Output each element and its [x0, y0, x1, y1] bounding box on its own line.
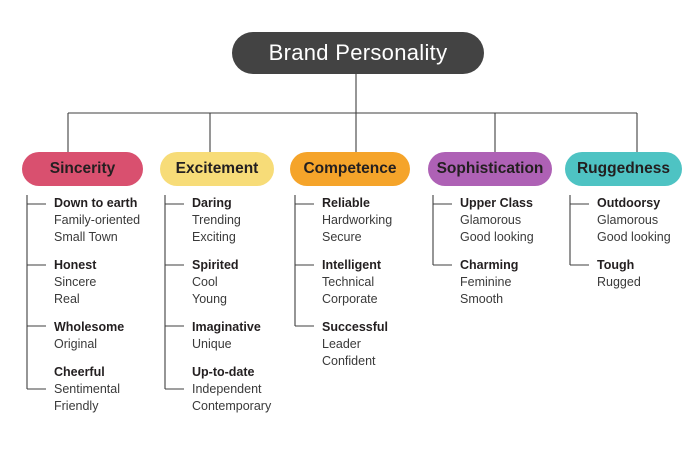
facet-connector-lines — [22, 195, 54, 447]
category-label: Excitement — [176, 160, 259, 178]
facet-item: Intelligent Technical Corporate — [322, 257, 430, 308]
facet-name: Cheerful — [54, 364, 162, 381]
facet-trait: Secure — [322, 229, 430, 246]
facet-item: Wholesome Original — [54, 319, 162, 353]
facet-name: Outdoorsy — [597, 195, 700, 212]
facet-item: Charming Feminine Smooth — [460, 257, 574, 308]
category-label: Sincerity — [50, 160, 115, 178]
category-label: Ruggedness — [577, 160, 670, 178]
facet-connector-lines — [160, 195, 192, 447]
facet-name: Reliable — [322, 195, 430, 212]
facet-trait: Good looking — [460, 229, 574, 246]
facet-trait: Unique — [192, 336, 300, 353]
facet-item: Upper Class Glamorous Good looking — [460, 195, 574, 246]
category-column-ruggedness: Ruggedness Outdoorsy Glamorous Good look… — [565, 152, 700, 291]
category-pill-competence[interactable]: Competence — [290, 152, 410, 186]
category-pill-ruggedness[interactable]: Ruggedness — [565, 152, 682, 186]
facet-name: Honest — [54, 257, 162, 274]
facet-name: Intelligent — [322, 257, 430, 274]
facet-trait: Exciting — [192, 229, 300, 246]
brand-personality-diagram: Brand Personality Sincerity Down to eart… — [0, 0, 700, 450]
facet-trait: Independent — [192, 381, 300, 398]
facet-name: Charming — [460, 257, 574, 274]
facet-list: Down to earth Family-oriented Small Town… — [22, 195, 162, 415]
facet-trait: Leader — [322, 336, 430, 353]
facet-item: Spirited Cool Young — [192, 257, 300, 308]
facet-name: Successful — [322, 319, 430, 336]
category-column-sophistication: Sophistication Upper Class Glamorous Goo… — [428, 152, 574, 308]
facet-trait: Smooth — [460, 291, 574, 308]
category-label: Competence — [303, 160, 396, 178]
category-label: Sophistication — [437, 160, 544, 178]
facet-list: Upper Class Glamorous Good looking Charm… — [428, 195, 574, 308]
facet-connector-lines — [428, 195, 460, 335]
facet-item: Up-to-date Independent Contemporary — [192, 364, 300, 415]
category-column-sincerity: Sincerity Down to earth Family-oriented … — [22, 152, 162, 415]
facet-trait: Rugged — [597, 274, 700, 291]
facet-connector-lines — [290, 195, 322, 395]
facet-trait: Glamorous — [460, 212, 574, 229]
facet-item: Tough Rugged — [597, 257, 700, 291]
facet-trait: Glamorous — [597, 212, 700, 229]
facet-trait: Cool — [192, 274, 300, 291]
facet-list: Daring Trending Exciting Spirited Cool Y… — [160, 195, 300, 415]
facet-item: Reliable Hardworking Secure — [322, 195, 430, 246]
facet-trait: Sincere — [54, 274, 162, 291]
facet-trait: Original — [54, 336, 162, 353]
category-column-competence: Competence Reliable Hardworking Secure I… — [290, 152, 430, 370]
facet-name: Daring — [192, 195, 300, 212]
facet-list: Reliable Hardworking Secure Intelligent … — [290, 195, 430, 370]
facet-trait: Technical — [322, 274, 430, 291]
category-column-excitement: Excitement Daring Trending Exciting Spir… — [160, 152, 300, 415]
category-pill-sincerity[interactable]: Sincerity — [22, 152, 143, 186]
facet-trait: Corporate — [322, 291, 430, 308]
facet-trait: Young — [192, 291, 300, 308]
facet-name: Imaginative — [192, 319, 300, 336]
facet-trait: Confident — [322, 353, 430, 370]
facet-name: Tough — [597, 257, 700, 274]
facet-trait: Real — [54, 291, 162, 308]
category-pill-excitement[interactable]: Excitement — [160, 152, 274, 186]
facet-trait: Hardworking — [322, 212, 430, 229]
category-pill-sophistication[interactable]: Sophistication — [428, 152, 552, 186]
diagram-title-label: Brand Personality — [269, 40, 448, 66]
facet-item: Imaginative Unique — [192, 319, 300, 353]
facet-item: Cheerful Sentimental Friendly — [54, 364, 162, 415]
facet-item: Outdoorsy Glamorous Good looking — [597, 195, 700, 246]
facet-trait: Friendly — [54, 398, 162, 415]
facet-name: Spirited — [192, 257, 300, 274]
facet-name: Up-to-date — [192, 364, 300, 381]
facet-trait: Feminine — [460, 274, 574, 291]
facet-trait: Good looking — [597, 229, 700, 246]
facet-item: Daring Trending Exciting — [192, 195, 300, 246]
diagram-title: Brand Personality — [232, 32, 484, 74]
facet-trait: Family-oriented — [54, 212, 162, 229]
facet-name: Wholesome — [54, 319, 162, 336]
facet-item: Honest Sincere Real — [54, 257, 162, 308]
facet-trait: Contemporary — [192, 398, 300, 415]
facet-name: Down to earth — [54, 195, 162, 212]
facet-name: Upper Class — [460, 195, 574, 212]
facet-trait: Sentimental — [54, 381, 162, 398]
facet-trait: Small Town — [54, 229, 162, 246]
facet-item: Successful Leader Confident — [322, 319, 430, 370]
facet-trait: Trending — [192, 212, 300, 229]
facet-list: Outdoorsy Glamorous Good looking Tough R… — [565, 195, 700, 291]
facet-item: Down to earth Family-oriented Small Town — [54, 195, 162, 246]
facet-connector-lines — [565, 195, 597, 335]
